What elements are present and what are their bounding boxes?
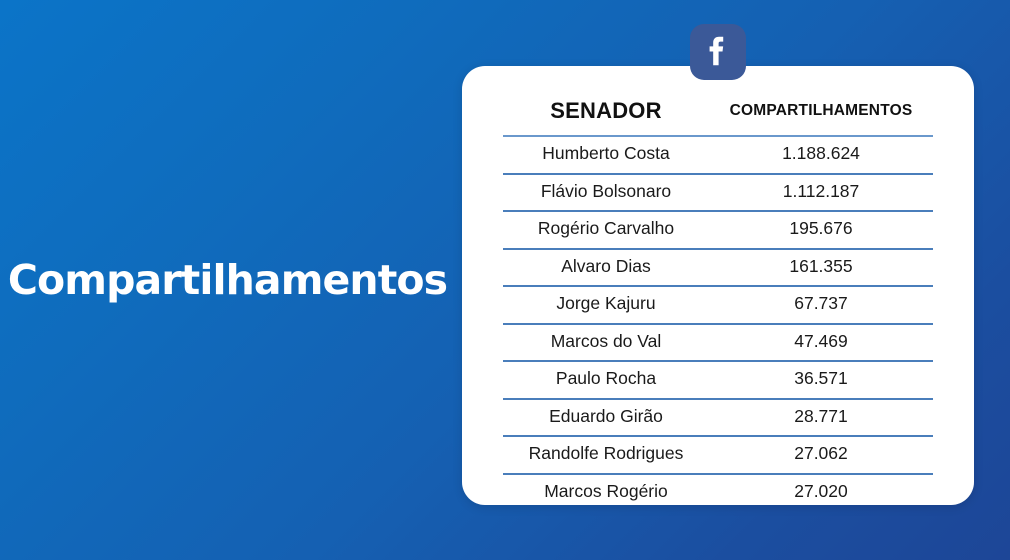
cell-senador: Eduardo Girão: [503, 406, 709, 427]
cell-senador: Randolfe Rodrigues: [503, 443, 709, 464]
cell-compartilhamentos: 28.771: [709, 406, 933, 427]
table-row: Marcos Rogério 27.020: [503, 473, 933, 511]
cell-senador: Paulo Rocha: [503, 368, 709, 389]
cell-compartilhamentos: 27.062: [709, 443, 933, 464]
table-row: Flávio Bolsonaro 1.112.187: [503, 173, 933, 211]
facebook-icon: [690, 24, 746, 80]
table-row: Alvaro Dias 161.355: [503, 248, 933, 286]
cell-senador: Marcos do Val: [503, 331, 709, 352]
cell-compartilhamentos: 47.469: [709, 331, 933, 352]
table-row: Rogério Carvalho 195.676: [503, 210, 933, 248]
cell-compartilhamentos: 161.355: [709, 256, 933, 277]
cell-compartilhamentos: 1.188.624: [709, 143, 933, 164]
cell-senador: Alvaro Dias: [503, 256, 709, 277]
ranking-card: SENADOR COMPARTILHAMENTOS Humberto Costa…: [462, 66, 974, 505]
table-row: Eduardo Girão 28.771: [503, 398, 933, 436]
table-header-row: SENADOR COMPARTILHAMENTOS: [503, 87, 933, 135]
table-row: Humberto Costa 1.188.624: [503, 135, 933, 173]
cell-compartilhamentos: 1.112.187: [709, 181, 933, 202]
cell-compartilhamentos: 27.020: [709, 481, 933, 502]
cell-compartilhamentos: 67.737: [709, 293, 933, 314]
cell-senador: Marcos Rogério: [503, 481, 709, 502]
table-row: Marcos do Val 47.469: [503, 323, 933, 361]
column-header-compartilhamentos: COMPARTILHAMENTOS: [709, 102, 933, 120]
cell-compartilhamentos: 195.676: [709, 218, 933, 239]
cell-senador: Humberto Costa: [503, 143, 709, 164]
table-row: Paulo Rocha 36.571: [503, 360, 933, 398]
slide-root: Compartilhamentos SENADOR COMPARTILHAMEN…: [0, 0, 1010, 560]
cell-compartilhamentos: 36.571: [709, 368, 933, 389]
table-row: Randolfe Rodrigues 27.062: [503, 435, 933, 473]
cell-senador: Jorge Kajuru: [503, 293, 709, 314]
column-header-senador: SENADOR: [503, 98, 709, 124]
cell-senador: Rogério Carvalho: [503, 218, 709, 239]
cell-senador: Flávio Bolsonaro: [503, 181, 709, 202]
table-row: Jorge Kajuru 67.737: [503, 285, 933, 323]
title-area: Compartilhamentos: [0, 248, 455, 312]
page-title: Compartilhamentos: [8, 260, 447, 301]
ranking-table: SENADOR COMPARTILHAMENTOS Humberto Costa…: [503, 66, 933, 505]
